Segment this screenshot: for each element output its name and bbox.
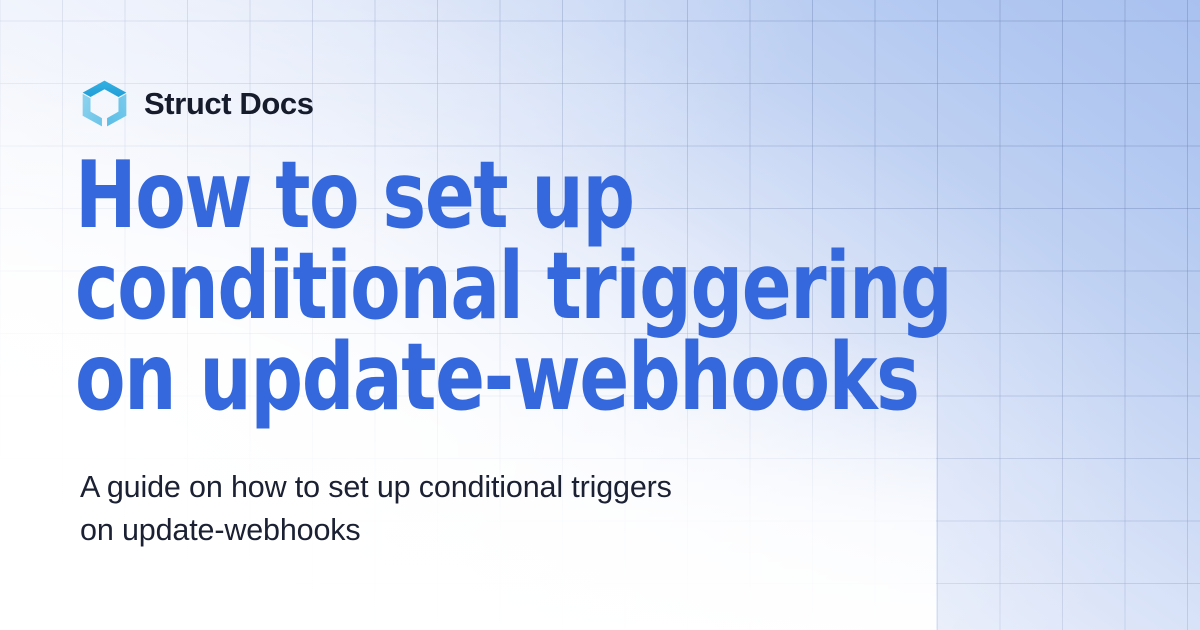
- page-subtitle: A guide on how to set up conditional tri…: [80, 466, 672, 552]
- brand-lockup[interactable]: Struct Docs: [80, 78, 314, 128]
- page-title: How to set up conditional triggering on …: [75, 150, 951, 423]
- hexagon-cube-icon: [80, 79, 129, 128]
- brand-name: Struct Docs: [144, 88, 314, 119]
- og-card: Struct Docs How to set up conditional tr…: [0, 0, 1200, 630]
- card-content: Struct Docs How to set up conditional tr…: [80, 0, 1200, 630]
